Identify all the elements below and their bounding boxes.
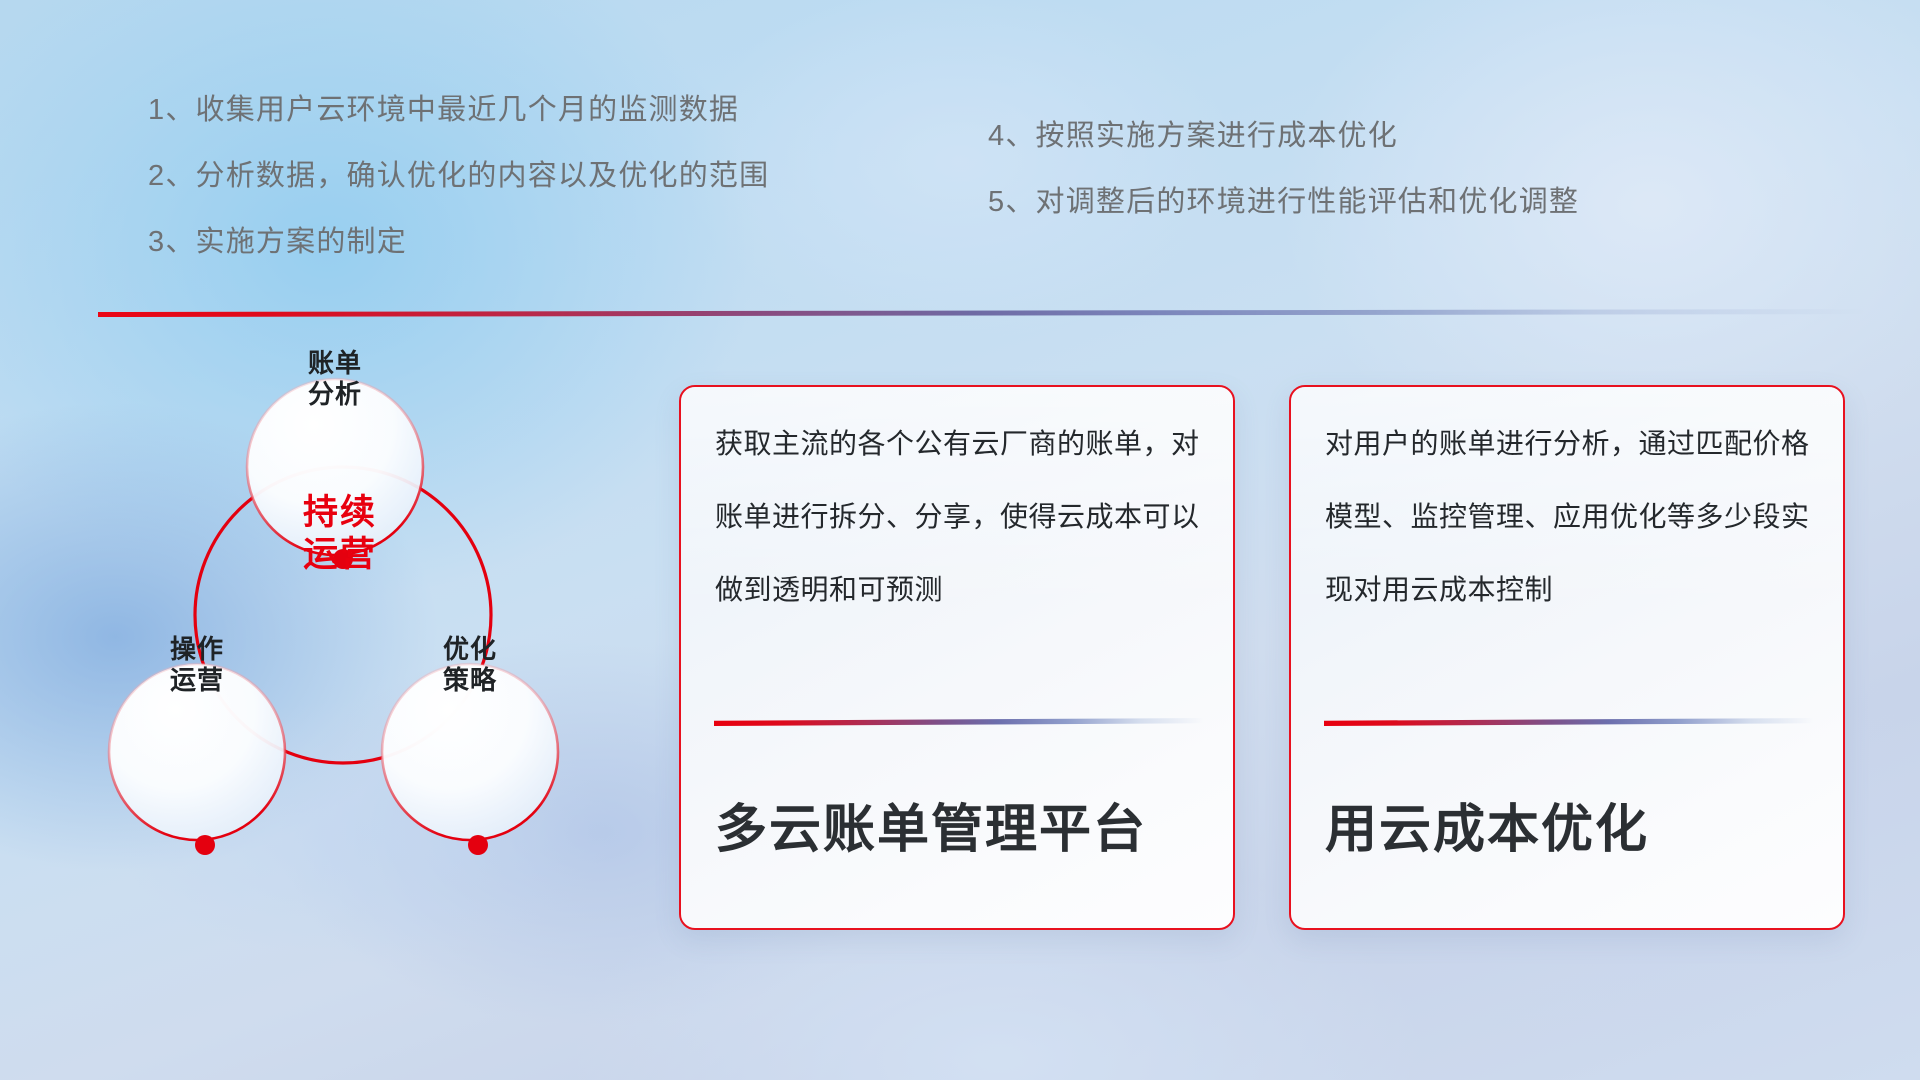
feature-card-body: 对用户的账单进行分析，通过匹配价格模型、监控管理、应用优化等多少段实现对用云成本…: [1325, 407, 1813, 626]
venn-center-label: 持续 运营: [245, 492, 435, 576]
feature-card-title: 多云账单管理平台: [715, 787, 1147, 862]
feature-card-title: 用云成本优化: [1325, 787, 1649, 862]
steps-left-column: 1、收集用户云环境中最近几个月的监测数据 2、分析数据，确认优化的内容以及优化的…: [148, 96, 769, 294]
step-item-5: 5、对调整后的环境进行性能评估和优化调整: [988, 188, 1579, 217]
step-item-4: 4、按照实施方案进行成本优化: [988, 122, 1579, 151]
section-divider-bar: [98, 309, 1920, 317]
feature-card-divider: [714, 718, 1204, 726]
venn-node-operations: [109, 664, 285, 877]
step-item-2: 2、分析数据，确认优化的内容以及优化的范围: [148, 162, 769, 191]
feature-card-divider-bar: [714, 718, 1204, 726]
step-item-1: 1、收集用户云环境中最近几个月的监测数据: [148, 96, 769, 125]
feature-card-cloud-cost-optimization[interactable]: 对用户的账单进行分析，通过匹配价格模型、监控管理、应用优化等多少段实现对用云成本…: [1289, 385, 1845, 930]
section-divider: [98, 309, 1920, 317]
feature-card-multicloud-billing[interactable]: 获取主流的各个公有云厂商的账单，对账单进行拆分、分享，使得云成本可以做到透明和可…: [679, 385, 1235, 930]
venn-node-strategy: [382, 664, 558, 877]
step-item-3: 3、实施方案的制定: [148, 228, 769, 257]
feature-card-body: 获取主流的各个公有云厂商的账单，对账单进行拆分、分享，使得云成本可以做到透明和可…: [715, 407, 1203, 626]
feature-card-divider: [1324, 718, 1814, 726]
feature-card-divider-bar: [1324, 718, 1814, 726]
steps-right-column: 4、按照实施方案进行成本优化 5、对调整后的环境进行性能评估和优化调整: [988, 122, 1579, 254]
venn-diagram: 账单 分析 操作 运营 优化 策略 持续 运营: [100, 340, 640, 940]
